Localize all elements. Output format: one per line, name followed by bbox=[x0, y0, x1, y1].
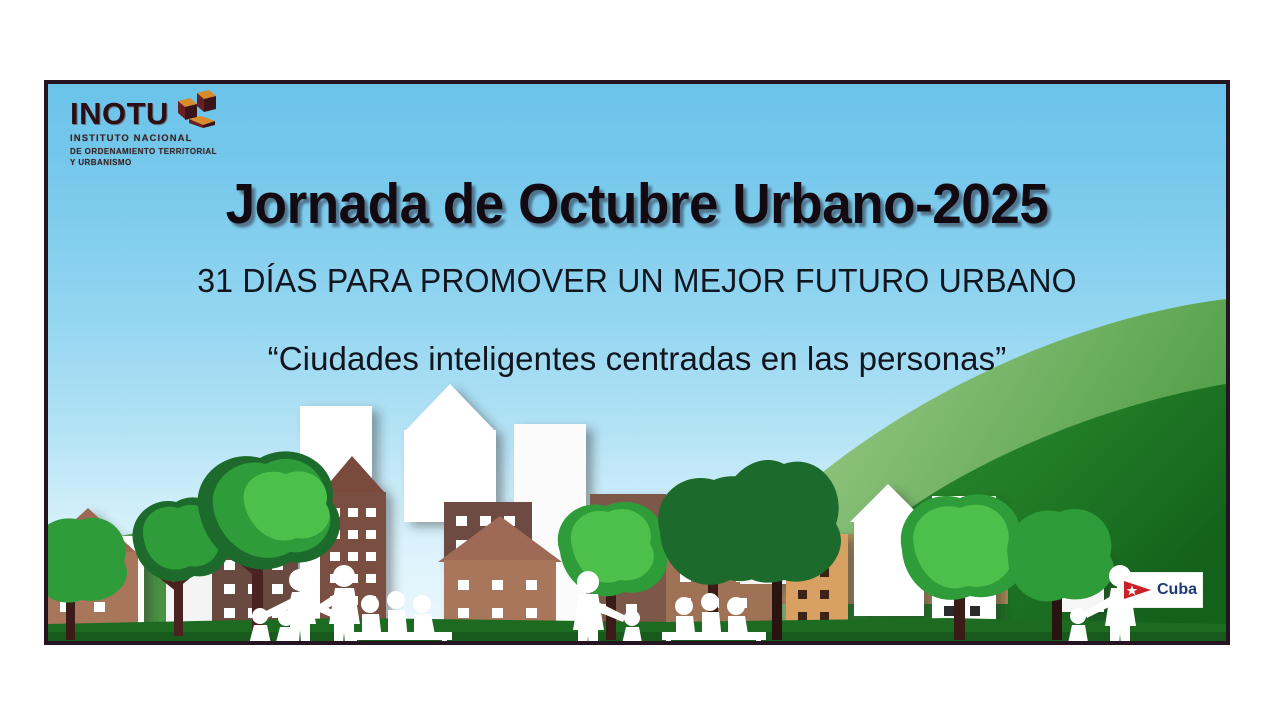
inotu-logo-row: INOTU bbox=[70, 98, 310, 129]
screenshot-canvas: INOTU INSTITUTO NACIONAL DE ORDENAMIENTO… bbox=[0, 0, 1270, 715]
isometric-cube-pinwheel-icon bbox=[175, 89, 219, 129]
inotu-acronym: INOTU bbox=[70, 98, 169, 129]
poster-banner: INOTU INSTITUTO NACIONAL DE ORDENAMIENTO… bbox=[44, 80, 1230, 645]
inotu-logo: INOTU INSTITUTO NACIONAL DE ORDENAMIENTO… bbox=[70, 98, 310, 170]
inotu-subtitle-line-2: DE ORDENAMIENTO TERRITORIAL bbox=[70, 146, 310, 158]
cuba-badge: Cuba bbox=[1118, 573, 1202, 607]
cuba-badge-label: Cuba bbox=[1157, 581, 1197, 599]
poster-tagline: “Ciudades inteligentes centradas en las … bbox=[48, 342, 1226, 375]
inotu-subtitle-line-3: Y URBANISMO bbox=[70, 157, 310, 169]
poster-subtitle: 31 DÍAS PARA PROMOVER UN MEJOR FUTURO UR… bbox=[66, 264, 1209, 297]
inotu-logo-subtitle: INSTITUTO NACIONAL DE ORDENAMIENTO TERRI… bbox=[70, 132, 310, 169]
people-bench-left bbox=[348, 591, 452, 641]
cuba-flag-triangle-star-icon bbox=[1123, 579, 1153, 601]
inotu-subtitle-line-1: INSTITUTO NACIONAL bbox=[70, 132, 310, 146]
poster-title: Jornada de Octubre Urbano-2025 bbox=[89, 176, 1185, 233]
